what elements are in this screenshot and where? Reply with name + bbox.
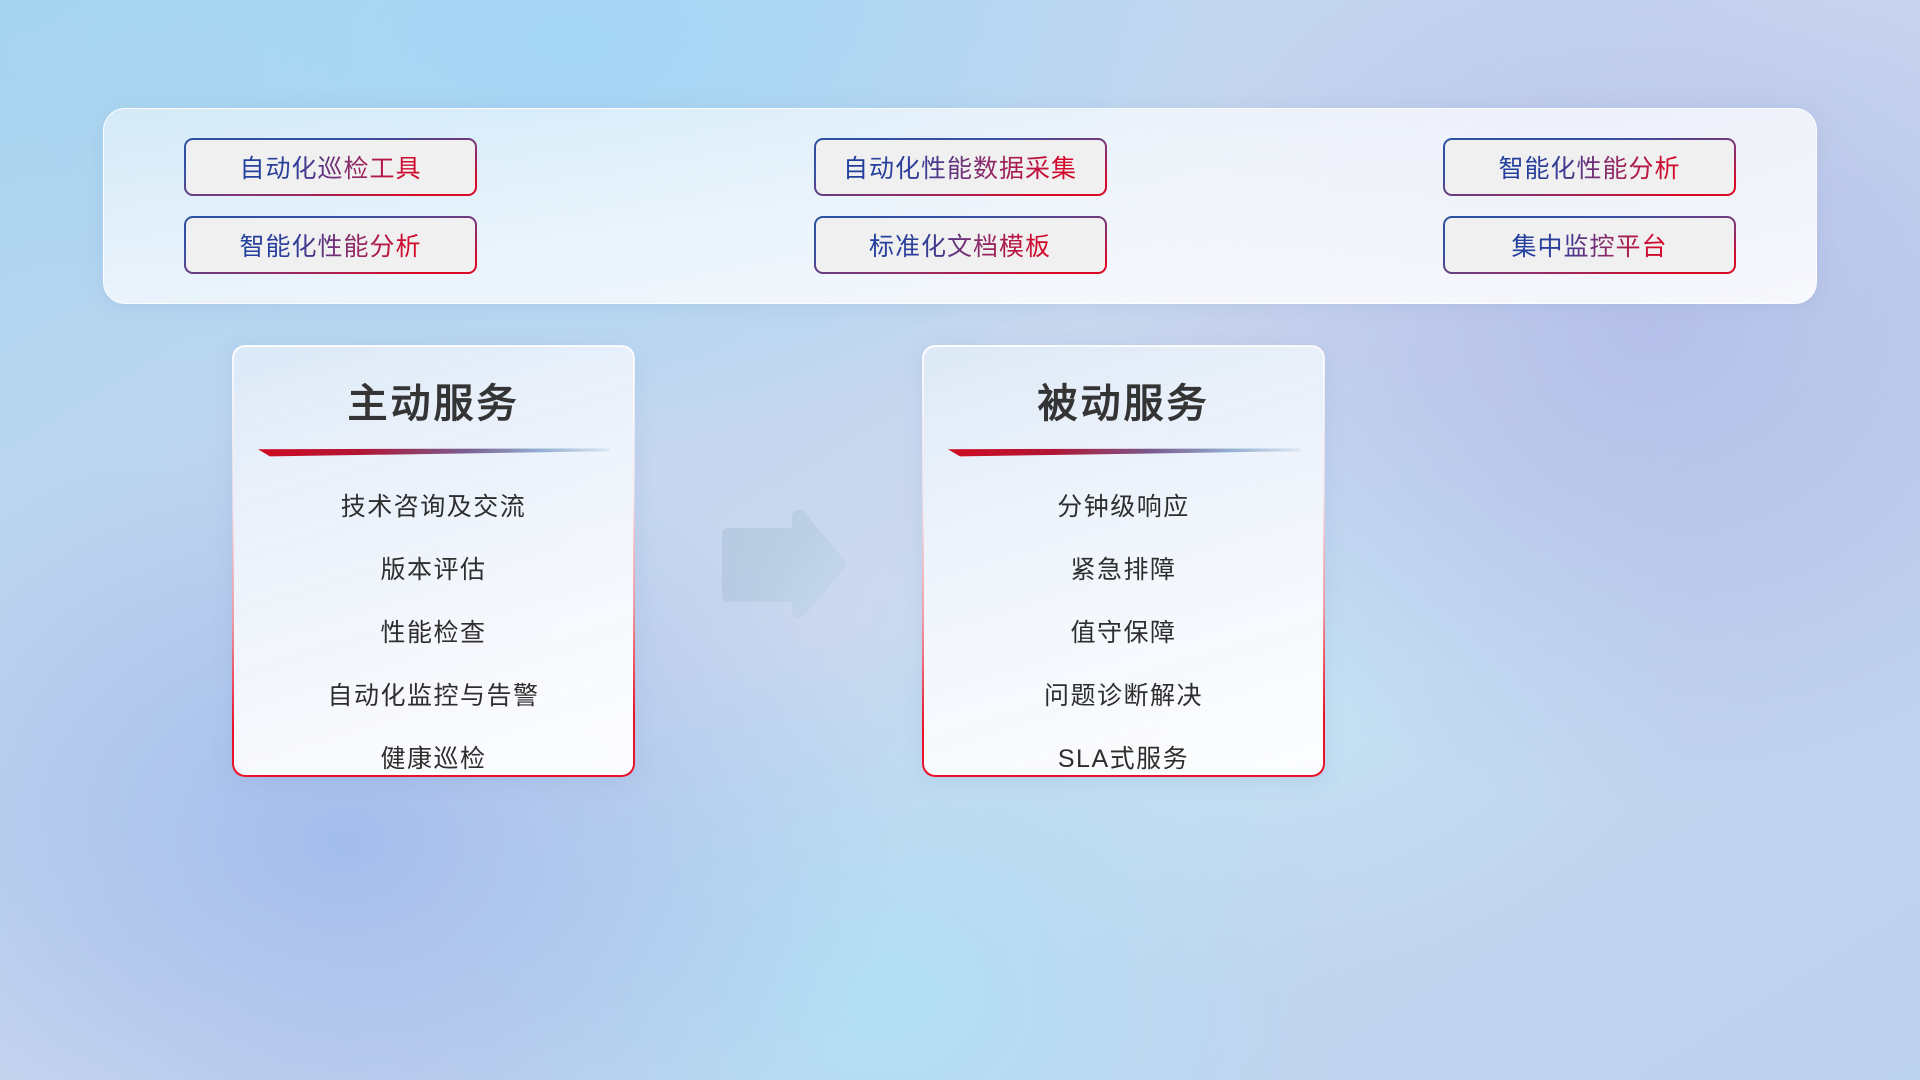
capability-chip-label: 标准化文档模板 [869, 227, 1051, 263]
right-arrow-icon [716, 505, 850, 625]
service-item-list: 分钟级响应 紧急排障 值守保障 问题诊断解决 SLA式服务 [923, 487, 1324, 775]
service-card-proactive: 主动服务 技术咨询及交流 版本评估 性能检查 自动化监控与告警 [232, 345, 635, 777]
capability-chip[interactable]: 标准化文档模板 [814, 216, 1107, 274]
service-item: 技术咨询及交流 [341, 487, 527, 523]
title-divider [258, 448, 610, 457]
service-item: 健康巡检 [380, 739, 486, 775]
capability-row: 智能化性能分析 标准化文档模板 集中监控平台 [184, 216, 1736, 274]
capability-chip-label: 智能化性能分析 [1498, 149, 1680, 185]
service-item: SLA式服务 [1058, 739, 1189, 775]
service-item: 自动化监控与告警 [327, 676, 539, 712]
capability-chip-label: 自动化性能数据采集 [843, 149, 1077, 185]
service-item: 版本评估 [380, 550, 486, 586]
capability-chip-label: 自动化巡检工具 [239, 149, 421, 185]
service-card-reactive: 被动服务 分钟级响应 紧急排障 值守保障 问题诊断解决 [922, 345, 1325, 777]
capabilities-panel: 自动化巡检工具 自动化性能数据采集 智能化性能分析 智能化性能分析 标准化文档模… [103, 108, 1817, 304]
capability-chip[interactable]: 自动化性能数据采集 [814, 138, 1107, 196]
capability-chip-label: 集中监控平台 [1511, 227, 1667, 263]
capability-chip[interactable]: 智能化性能分析 [184, 216, 477, 274]
title-divider [948, 448, 1300, 457]
service-item-list: 技术咨询及交流 版本评估 性能检查 自动化监控与告警 健康巡检 [233, 487, 634, 775]
service-item: 分钟级响应 [1057, 487, 1190, 523]
service-card-title: 被动服务 [923, 371, 1324, 429]
capability-chip[interactable]: 智能化性能分析 [1443, 138, 1736, 196]
service-item: 问题诊断解决 [1044, 676, 1203, 712]
service-item: 紧急排障 [1070, 550, 1176, 586]
slide-canvas: 自动化巡检工具 自动化性能数据采集 智能化性能分析 智能化性能分析 标准化文档模… [0, 0, 1920, 1080]
capability-chip-label: 智能化性能分析 [239, 227, 421, 263]
capability-row: 自动化巡检工具 自动化性能数据采集 智能化性能分析 [184, 138, 1736, 196]
service-item: 值守保障 [1070, 613, 1176, 649]
service-card-title: 主动服务 [233, 371, 634, 429]
service-item: 性能检查 [380, 613, 486, 649]
capability-chip[interactable]: 自动化巡检工具 [184, 138, 477, 196]
capability-chip[interactable]: 集中监控平台 [1443, 216, 1736, 274]
